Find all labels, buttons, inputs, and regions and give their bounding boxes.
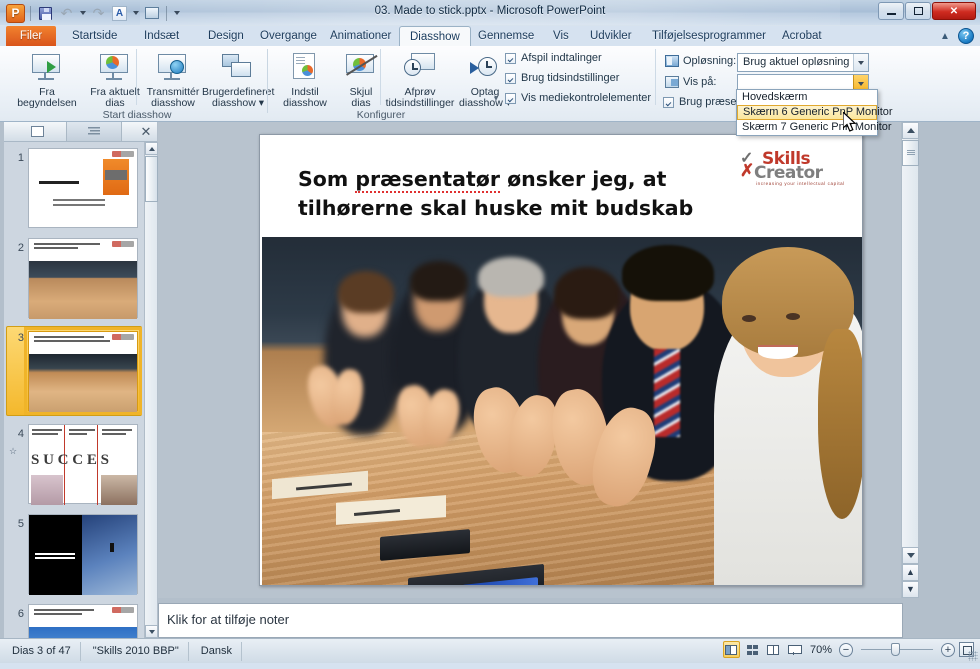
slide-photo bbox=[262, 237, 862, 585]
powerpoint-window: P ↶ ↷ A 03. Made to stick.pptx - Microso… bbox=[0, 0, 980, 669]
setup-show-icon bbox=[288, 51, 322, 83]
thumb-photo bbox=[101, 475, 137, 505]
slide-counter[interactable]: Dias 3 of 47 bbox=[3, 642, 81, 661]
group-label-start-diasshow: Start diasshow bbox=[6, 109, 268, 121]
tab-overgange[interactable]: Overgange bbox=[250, 26, 327, 46]
book-cover-image bbox=[103, 159, 129, 195]
optag-line2: diasshow ▾ bbox=[459, 97, 511, 109]
slide-thumbnail-2[interactable] bbox=[28, 238, 138, 318]
thumb-title bbox=[34, 609, 109, 620]
brugerdefineret-line2: diasshow ▾ bbox=[212, 97, 264, 109]
brug-tidsindstillinger-checkbox[interactable]: Brug tidsindstillinger bbox=[505, 72, 619, 84]
checkbox-box bbox=[505, 53, 516, 64]
brand-logo-icon bbox=[112, 241, 134, 247]
fra-begyndelsen-line2: begyndelsen bbox=[17, 97, 77, 109]
tab-filer[interactable]: Filer bbox=[6, 26, 56, 46]
brand-logo-icon bbox=[112, 607, 134, 613]
slide-thumbnail-6[interactable] bbox=[28, 604, 138, 638]
thumb-dark-panel bbox=[29, 515, 82, 595]
zoom-slider-handle[interactable] bbox=[891, 643, 900, 656]
zoom-level[interactable]: 70% bbox=[810, 644, 832, 656]
thumb-photo bbox=[29, 354, 137, 412]
brand-logo-icon bbox=[112, 151, 134, 157]
list-item[interactable]: 5 bbox=[4, 514, 144, 598]
oplosning-combo[interactable]: Brug aktuel opløsning bbox=[737, 53, 869, 72]
zoom-slider[interactable] bbox=[861, 649, 933, 650]
slide-number: 1 bbox=[8, 152, 24, 164]
skjul-line2: dias bbox=[351, 97, 370, 109]
window-controls[interactable]: ✕ bbox=[878, 2, 976, 20]
language-indicator[interactable]: Dansk bbox=[192, 642, 242, 661]
slides-pane: ✕ 1 2 bbox=[4, 122, 157, 638]
striped-tie bbox=[654, 349, 680, 437]
brand-logo-icon bbox=[112, 334, 134, 340]
braid bbox=[818, 329, 862, 519]
slides-pane-header[interactable]: ✕ bbox=[4, 122, 157, 142]
slide-thumbnail-list[interactable]: 1 2 bbox=[4, 142, 144, 638]
window-title: 03. Made to stick.pptx - Microsoft Power… bbox=[0, 5, 980, 17]
group-label-konfigurer: Konfigurer bbox=[272, 109, 490, 121]
brug-praesentationsvisning-label: Brug præsen bbox=[679, 96, 743, 108]
slideshow-current-icon bbox=[98, 51, 132, 83]
ribbon-tabs[interactable]: Filer Startside Indsæt Design Overgange … bbox=[0, 26, 980, 46]
transmitter-line2: diasshow bbox=[151, 97, 195, 109]
tab-design[interactable]: Design bbox=[198, 26, 254, 46]
hide-slide-icon bbox=[344, 51, 378, 83]
slide-number: 4 bbox=[8, 428, 24, 440]
slide-number: 2 bbox=[8, 242, 24, 254]
logo-word-creator: Creator bbox=[754, 163, 823, 183]
slide-number: 5 bbox=[8, 518, 24, 530]
slide-scrollbar[interactable]: ▲ ▼ bbox=[901, 122, 918, 598]
list-item[interactable]: 3 bbox=[4, 328, 144, 418]
checkbox-box bbox=[505, 73, 516, 84]
animation-star-icon: ☆ bbox=[9, 446, 17, 457]
oplosning-value: Brug aktuel opløsning bbox=[743, 56, 849, 68]
checkbox-box bbox=[505, 93, 516, 104]
close-button[interactable]: ✕ bbox=[932, 2, 976, 20]
afspil-indtalinger-label: Afspil indtalinger bbox=[521, 52, 602, 64]
succes-letters: S U C C E S bbox=[31, 449, 137, 471]
help-icon[interactable]: ? bbox=[958, 28, 974, 44]
scrollbar-thumb[interactable] bbox=[902, 140, 919, 166]
afprov-line2: tidsindstillinger bbox=[386, 97, 455, 109]
checkbox-box bbox=[663, 97, 674, 108]
ribbon-group-start-diasshow: Fra begyndelsen Fra aktuelt dias bbox=[6, 46, 268, 122]
vis-mediekontrolelementer-checkbox[interactable]: Vis mediekontrolelementer bbox=[505, 92, 651, 104]
slide-thumbnail-4[interactable]: S U C C E S bbox=[28, 424, 138, 504]
tab-tilfoejelsesprogrammer[interactable]: Tilføjelsesprogrammer bbox=[642, 26, 776, 46]
list-item[interactable]: 2 bbox=[4, 238, 144, 322]
resize-grip[interactable] bbox=[968, 651, 978, 661]
maximize-button[interactable] bbox=[905, 2, 931, 20]
custom-show-icon bbox=[221, 51, 255, 83]
title-bar: P ↶ ↷ A 03. Made to stick.pptx - Microso… bbox=[0, 0, 980, 26]
slide-title-part2: ønsker jeg, at bbox=[500, 167, 666, 191]
thumb-photo bbox=[29, 627, 137, 638]
current-slide[interactable]: Som præsentatør ønsker jeg, at tilhørern… bbox=[259, 134, 863, 586]
close-pane-icon[interactable]: ✕ bbox=[139, 125, 153, 139]
thumb-title bbox=[34, 336, 109, 347]
show-on-icon bbox=[665, 76, 679, 88]
tab-acrobat[interactable]: Acrobat bbox=[772, 26, 832, 46]
resolution-icon bbox=[665, 55, 679, 67]
group-expand-arrow-icon[interactable]: ▾ bbox=[494, 94, 500, 102]
view-slideshow-button[interactable] bbox=[786, 641, 803, 658]
oplosning-label: Opløsning: bbox=[683, 55, 736, 67]
scrollbar-thumb[interactable] bbox=[145, 156, 158, 202]
mouse-cursor bbox=[843, 112, 859, 134]
indstil-line2: diasshow bbox=[283, 97, 327, 109]
slides-pane-scrollbar[interactable] bbox=[144, 142, 157, 638]
scroll-down-button[interactable] bbox=[902, 547, 919, 564]
minimize-ribbon-icon[interactable]: ▲ bbox=[940, 31, 951, 42]
thumb-title bbox=[34, 243, 109, 254]
scroll-up-button[interactable] bbox=[145, 142, 158, 155]
next-slide-button[interactable]: ▼ bbox=[902, 581, 919, 598]
thumb-sub-line bbox=[53, 199, 105, 201]
slide-title[interactable]: Som præsentatør ønsker jeg, at tilhørern… bbox=[298, 165, 742, 223]
vis-mediekontrolelementer-label: Vis mediekontrolelementer bbox=[521, 92, 651, 104]
slide-number: 3 bbox=[8, 332, 24, 344]
dropdown-item-hovedskaerm[interactable]: Hovedskærm bbox=[737, 90, 877, 105]
slide-thumbnail-3[interactable] bbox=[28, 331, 138, 411]
tab-diasshow[interactable]: Diasshow bbox=[399, 26, 471, 46]
slide-title-part1: Som bbox=[298, 167, 355, 191]
theme-name[interactable]: "Skills 2010 BBP" bbox=[84, 642, 189, 661]
fra-aktuelt-dias-line2: dias bbox=[105, 97, 124, 109]
view-normal-button[interactable] bbox=[723, 641, 740, 658]
previous-slide-button[interactable]: ▲ bbox=[902, 564, 919, 581]
view-reading-button[interactable] bbox=[765, 641, 782, 658]
tab-startside[interactable]: Startside bbox=[62, 26, 127, 46]
view-slide-sorter-button[interactable] bbox=[744, 641, 761, 658]
brug-tidsindstillinger-label: Brug tidsindstillinger bbox=[521, 72, 619, 84]
thumb-title-line bbox=[39, 181, 79, 184]
ribbon-group-konfigurer: Indstil diasshow Skjul dias bbox=[272, 46, 490, 122]
slide-thumbnail-1[interactable] bbox=[28, 148, 138, 228]
slideshow-play-icon bbox=[30, 51, 64, 83]
tab-vis[interactable]: Vis bbox=[543, 26, 579, 46]
scroll-up-button[interactable] bbox=[902, 122, 919, 139]
brug-praesentationsvisning-checkbox[interactable]: Brug præsen bbox=[663, 96, 743, 108]
zoom-in-button[interactable]: + bbox=[941, 643, 955, 657]
tab-animationer[interactable]: Animationer bbox=[320, 26, 401, 46]
tab-udvikler[interactable]: Udvikler bbox=[580, 26, 642, 46]
vis-paa-label: Vis på: bbox=[683, 76, 716, 88]
status-bar-right: 70% − + bbox=[723, 641, 974, 658]
slide-thumbnail-5[interactable] bbox=[28, 514, 138, 594]
broadcast-icon bbox=[156, 51, 190, 83]
scroll-down-button[interactable] bbox=[145, 625, 158, 638]
chevron-down-icon[interactable] bbox=[853, 54, 868, 71]
list-item[interactable]: 4 ☆ S U C C E S bbox=[4, 424, 144, 508]
thumb-photo bbox=[82, 515, 137, 595]
slide-title-misspelled-word: præsentatør bbox=[355, 167, 500, 193]
zoom-out-button[interactable]: − bbox=[839, 643, 853, 657]
logo-tagline: increasing your intellectual capital bbox=[756, 181, 845, 186]
list-item[interactable]: 1 bbox=[4, 148, 144, 232]
slide-title-line2: tilhørerne skal huske mit budskab bbox=[298, 196, 693, 220]
tab-indsaet[interactable]: Indsæt bbox=[134, 26, 189, 46]
list-item[interactable]: 6 bbox=[4, 604, 144, 638]
skills-creator-logo: ✓ ✗ Skills Creator increasing your intel… bbox=[740, 149, 846, 187]
slide-stage: Som præsentatør ønsker jeg, at tilhørern… bbox=[158, 122, 918, 598]
tab-gennemse[interactable]: Gennemse bbox=[468, 26, 544, 46]
tab-slides-thumbnails[interactable] bbox=[22, 123, 52, 141]
ribbon-help-area[interactable]: ▲ ? bbox=[940, 28, 974, 44]
record-show-icon bbox=[468, 51, 502, 83]
tab-outline[interactable] bbox=[66, 122, 122, 141]
work-area: ✕ 1 2 bbox=[0, 122, 980, 638]
afspil-indtalinger-checkbox[interactable]: Afspil indtalinger bbox=[505, 52, 602, 64]
x-icon: ✗ bbox=[740, 162, 754, 179]
notes-input[interactable]: Klik for at tilføje noter bbox=[158, 603, 903, 638]
notes-placeholder: Klik for at tilføje noter bbox=[167, 612, 289, 627]
thumb-photo bbox=[31, 475, 63, 505]
minimize-button[interactable] bbox=[878, 2, 904, 20]
slide-number: 6 bbox=[8, 608, 24, 620]
status-bar: Dias 3 of 47 "Skills 2010 BBP" Dansk 70%… bbox=[0, 638, 980, 663]
rehearse-timings-icon bbox=[403, 51, 437, 83]
thumb-photo bbox=[29, 261, 137, 319]
notes-pane[interactable]: Klik for at tilføje noter bbox=[158, 598, 918, 638]
